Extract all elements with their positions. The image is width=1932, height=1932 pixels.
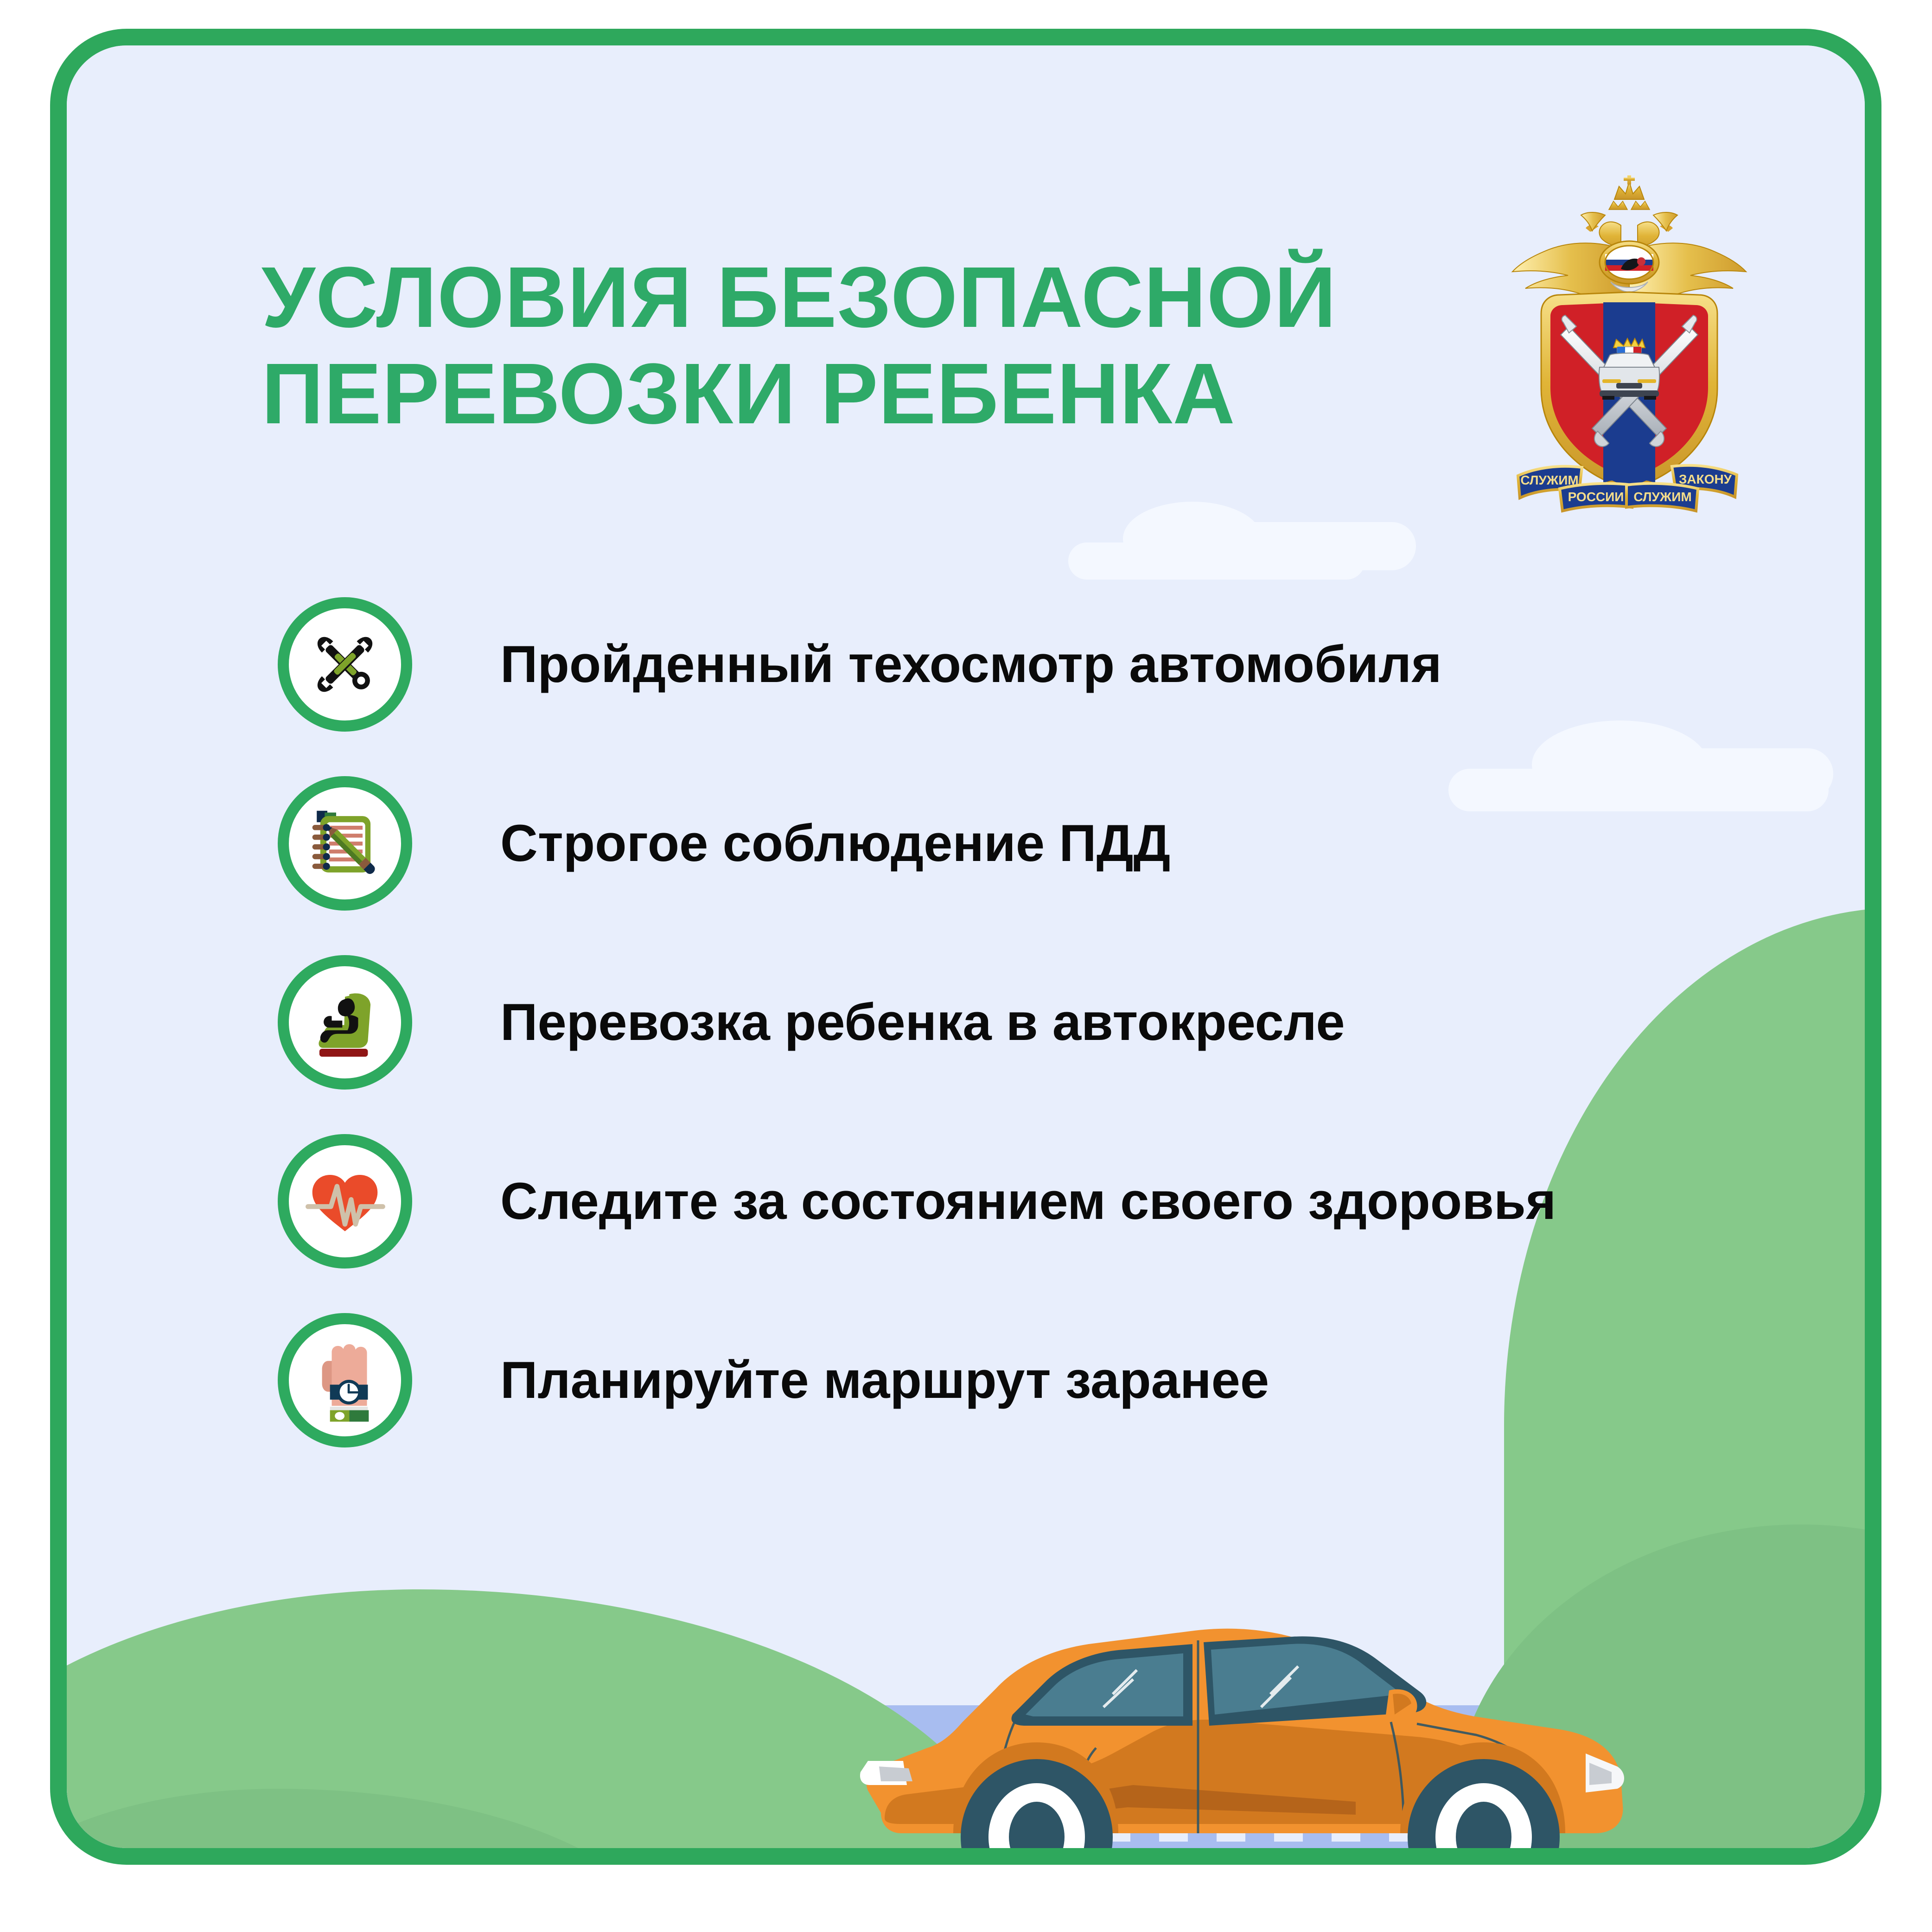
list-item-badge bbox=[278, 955, 412, 1090]
list-item: Перевозка ребенка в автокресле bbox=[278, 955, 1715, 1090]
list-item-badge bbox=[278, 597, 412, 732]
mvd-gibdd-emblem: СЛУЖИМ РОССИИ СЛУЖИМ ЗАКОНУ bbox=[1499, 171, 1759, 514]
list-item-badge bbox=[278, 776, 412, 911]
poster-frame: УСЛОВИЯ БЕЗОПАСНОЙ ПЕРЕВОЗКИ РЕБЕНКА bbox=[50, 29, 1881, 1865]
list-item-label: Планируйте маршрут заранее bbox=[500, 1352, 1269, 1409]
list-item: Пройденный техосмотр автомобиля bbox=[278, 597, 1715, 732]
list-item-label: Строгое соблюдение ПДД bbox=[500, 815, 1170, 872]
crossed-wrenches-icon bbox=[301, 620, 389, 708]
list-item: Строгое соблюдение ПДД bbox=[278, 776, 1715, 911]
orange-car-illustration bbox=[827, 1585, 1662, 1865]
list-item-label: Пройденный техосмотр автомобиля bbox=[500, 636, 1442, 693]
ribbon-text-right: ЗАКОНУ bbox=[1679, 472, 1732, 486]
list-item: Планируйте маршрут заранее bbox=[278, 1313, 1715, 1447]
wristwatch-hand-icon bbox=[301, 1336, 389, 1424]
list-item: Следите за состоянием своего здоровья bbox=[278, 1134, 1715, 1269]
heart-pulse-icon bbox=[301, 1157, 389, 1245]
list-item-label: Перевозка ребенка в автокресле bbox=[500, 994, 1345, 1051]
emblem-shield bbox=[1541, 292, 1717, 494]
ribbon-text-center-left: РОССИИ bbox=[1568, 490, 1624, 504]
cloud-icon bbox=[1068, 542, 1365, 580]
conditions-list: Пройденный техосмотр автомобиля bbox=[278, 597, 1715, 1492]
double-headed-eagle bbox=[1512, 175, 1746, 310]
child-car-seat-icon bbox=[301, 978, 389, 1066]
ribbon-text-center-right: СЛУЖИМ bbox=[1633, 490, 1691, 504]
page-title: УСЛОВИЯ БЕЗОПАСНОЙ ПЕРЕВОЗКИ РЕБЕНКА bbox=[261, 249, 1374, 443]
poster-root: УСЛОВИЯ БЕЗОПАСНОЙ ПЕРЕВОЗКИ РЕБЕНКА bbox=[0, 0, 1932, 1932]
list-item-badge bbox=[278, 1313, 412, 1447]
ribbon-text-left: СЛУЖИМ bbox=[1520, 473, 1578, 487]
list-item-label: Следите за состоянием своего здоровья bbox=[500, 1173, 1556, 1230]
notepad-pencil-icon bbox=[301, 799, 389, 887]
list-item-badge bbox=[278, 1134, 412, 1269]
